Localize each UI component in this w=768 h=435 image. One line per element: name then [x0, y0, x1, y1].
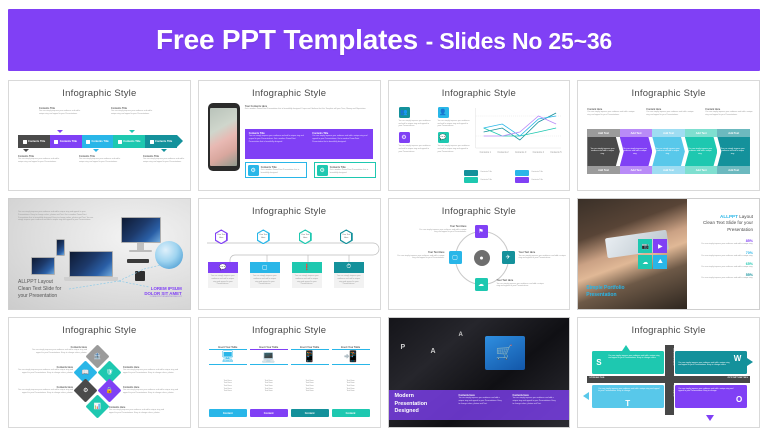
shield-icon: 🛡	[106, 369, 114, 376]
node-body: You can simply impress your audience and…	[519, 255, 567, 260]
column-rule	[209, 364, 247, 365]
slide-thumbnail-12[interactable]: Infographic Style S You can simply impre…	[577, 317, 760, 428]
axis-label-strengths: STRENGTHS	[589, 377, 604, 379]
segment-label: Contents Title	[123, 140, 140, 143]
stat-body: You can simply impress your audience and…	[693, 277, 753, 280]
line-chart-svg: Contents 1Contents 2 Contents 3Contents …	[464, 106, 562, 158]
phone-icon: 📲	[344, 350, 358, 364]
key-alt: A	[459, 332, 463, 338]
slide-thumbnail-8[interactable]: Simple Portfolio Presentation 📷 ▶ ☁ ⛰ AL…	[577, 198, 760, 309]
axis-label-threats: THREATS	[666, 385, 674, 397]
svg-text:Contents 4: Contents 4	[533, 151, 545, 154]
chevron-column-5[interactable]: Add Text You can simply impress your aud…	[717, 129, 750, 174]
hex-card-3[interactable]: ❗ You can simply impress your audience a…	[292, 262, 322, 288]
slide-thumbnail-9[interactable]: Infographic Style 🏦 📖 🛡 ⚙ 🔒 📊 Contents H…	[8, 317, 191, 428]
accent-sub: CONSECTETUR ADIPISCING ELIT	[144, 296, 181, 298]
intro-block: Your Contents Here Get a modern PowerPoi…	[245, 105, 373, 111]
poster-page: Free PPT Templates - Slides No 25~36 Inf…	[0, 0, 768, 435]
slide-thumbnail-6[interactable]: Infographic Style Your Text Here Your Te…	[198, 198, 381, 309]
hex-step-3[interactable]: Your Text Here	[299, 229, 312, 244]
table-cells-3: Text Here Text Here Text Here Text Here …	[291, 380, 329, 394]
slide-thumbnail-11[interactable]: 🛒 P A A Modern Presentation Designed Con…	[388, 317, 571, 428]
monitor-stand	[137, 243, 144, 250]
slide-title: Infographic Style	[199, 88, 380, 99]
table-column-2[interactable]: Insert Your Table 💻	[250, 346, 288, 365]
swot-letter-t: T	[625, 399, 630, 408]
column-rule	[332, 364, 370, 365]
chevron-body: You can simply impress your audience and…	[590, 148, 615, 156]
timeline-segment-2[interactable]: Contents Title	[50, 135, 82, 148]
chevron-header: Add Text	[685, 129, 718, 137]
key-p: P	[401, 344, 406, 351]
circle-icon: ●	[474, 250, 490, 266]
node-text-top: Your Text Here You can simply impress yo…	[417, 225, 467, 234]
tablet-icon: ▢	[250, 262, 280, 273]
slide-thumbnail-10[interactable]: Infographic Style Insert Your Table 🖥 In…	[198, 317, 381, 428]
hex-card-body: You can simply impress your audience and…	[250, 273, 280, 288]
hex-step-4[interactable]: Your Text Here	[340, 229, 353, 244]
node-body: You can simply impress your audience and…	[417, 229, 467, 234]
stat-item-3: 65% You can simply impress your audience…	[693, 262, 753, 269]
laptop-icon: 💻	[262, 350, 276, 364]
segment-icon	[86, 140, 90, 144]
table-cell: Text Here	[224, 390, 232, 393]
gear-icon: ⚙	[83, 387, 88, 394]
slide-title: Infographic Style	[9, 325, 190, 336]
svg-text:Contents 3: Contents 3	[515, 151, 527, 154]
hex-label: Your Text Here	[340, 234, 353, 239]
table-cells-1: Text Here Text Here Text Here Text Here …	[209, 380, 247, 394]
chevron-footer: Add Text	[587, 166, 620, 174]
hex-card-1[interactable]: 💬 You can simply impress your audience a…	[208, 262, 238, 288]
segment-label: Contents Title	[155, 140, 172, 143]
node-body: You can simply impress your audience and…	[397, 255, 445, 260]
note-body: You can simply impress your audience and…	[17, 389, 73, 394]
content-button-2[interactable]: Content	[250, 409, 288, 417]
slide-thumbnail-7[interactable]: Infographic Style ● ⚑ ▢ ✈ ☁ Your Text He…	[388, 198, 571, 309]
legend-item-3: Contents Title	[515, 170, 562, 176]
card-body: Get a modern PowerPoint Presentation tha…	[330, 169, 373, 174]
portfolio-right-panel: ALLPPT Layout Clean Text Slide for your …	[687, 199, 759, 308]
stat-item-4: 55% You can simply impress your audience…	[693, 273, 753, 280]
arrow-left-icon	[583, 392, 589, 400]
table-button-row: Content Content Content Content	[209, 409, 370, 417]
column-body: You can simply impress your audience and…	[459, 397, 503, 405]
svg-text:Contents 5: Contents 5	[550, 151, 562, 154]
slide-thumbnail-1[interactable]: Infographic Style Contents Title You can…	[8, 80, 191, 191]
chevron-footer: Add Text	[652, 166, 685, 174]
hex-card-body: You can simply impress your audience and…	[292, 273, 322, 288]
hex-label: Your Text Here	[215, 234, 228, 239]
purple-overlay: Modern Presentation Designed Contents He…	[389, 390, 570, 420]
chevron-column-3[interactable]: Add Text You can simply impress your aud…	[652, 129, 685, 174]
arrow-head-icon	[177, 135, 183, 147]
swot-weaknesses[interactable]: W You can simply impress your audience a…	[675, 351, 747, 374]
table-cells-2: Text Here Text Here Text Here Text Here …	[250, 380, 288, 394]
hex-card-body: You can simply impress your audience and…	[334, 273, 364, 288]
phone-screen-photo	[210, 108, 237, 166]
monitor-screen	[121, 217, 161, 243]
chart-legend: Contents Title Contents Title Contents T…	[464, 170, 562, 184]
segment-icon	[54, 140, 58, 144]
hexagon-icon: Your Text Here	[299, 229, 312, 244]
table-cell: Text Here	[265, 390, 273, 393]
node-top[interactable]: ⚑	[475, 225, 488, 238]
chevron-header: Add Text	[717, 129, 750, 137]
note-body: You can simply impress your audience and…	[123, 389, 183, 394]
panel-body: You can simply impress your audience and…	[249, 135, 305, 143]
table-column-3[interactable]: Insert Your Table 📱	[291, 346, 329, 365]
chat-icon: 💬	[208, 262, 238, 273]
hexagon-icon: Your Text Here	[215, 229, 228, 244]
legend-swatch	[464, 170, 478, 176]
phone-screen	[56, 239, 65, 256]
lock-icon: 🔒	[106, 387, 113, 394]
feature-item-1[interactable]: 👥 You can simply impress your audience a…	[399, 107, 432, 128]
swot-body: You can simply impress your audience and…	[608, 355, 661, 360]
table-column-4[interactable]: Insert Your Table 📲	[332, 346, 370, 365]
node-left[interactable]: ▢	[449, 251, 462, 264]
bank-icon: 🏦	[94, 353, 101, 360]
legend-label: Contents Title	[531, 179, 543, 182]
keyboard-headline: Modern Presentation Designed	[395, 393, 428, 416]
chevron-body: You can simply impress your audience and…	[623, 148, 648, 156]
chevron-footer: Add Text	[685, 166, 718, 174]
chevron-column-1[interactable]: Add Text You can simply impress your aud…	[587, 129, 620, 174]
book-icon: 📖	[82, 369, 89, 376]
note-body: You can simply impress your audience and…	[646, 111, 696, 116]
swot-threats[interactable]: T You can simply impress your audience a…	[592, 385, 664, 408]
axis-label-opportunities: OPPORTUNITIES	[728, 377, 748, 379]
note-body: You can simply impress your audience and…	[31, 349, 87, 354]
table-cell: Text Here	[306, 390, 314, 393]
arrow-up-icon	[622, 345, 630, 351]
note-body: You can simply impress your audience and…	[587, 111, 637, 116]
legend-label: Contents Title	[480, 171, 492, 174]
page-title-main: Free PPT Templates	[156, 24, 418, 55]
people-icon: 👥	[399, 107, 410, 118]
segment-icon	[118, 140, 122, 144]
chevron-body: You can simply impress your audience and…	[688, 148, 713, 156]
hexagon-icon: Your Text Here	[257, 229, 270, 244]
svg-text:Contents 1: Contents 1	[480, 151, 492, 154]
slide-thumbnail-5[interactable]: You can simply impress your audience and…	[8, 198, 191, 309]
callout-top-2: Contents Title You can simply impress yo…	[111, 107, 155, 116]
info-card-2[interactable]: ⚙ Contents Title Get a modern PowerPoint…	[314, 162, 376, 178]
card-body: Get a modern PowerPoint Presentation tha…	[261, 169, 304, 174]
column-body: You can simply impress your audience and…	[513, 397, 557, 405]
slide-title: Infographic Style	[199, 206, 380, 217]
accent-text: LOREM IPSUM DOLOR SIT AMET CONSECTETUR A…	[144, 286, 181, 298]
cart-key-icon: 🛒	[485, 336, 525, 370]
chevron-header: Add Text	[652, 129, 685, 137]
slide-thumbnail-4[interactable]: Infographic Style Content Here You can s…	[577, 80, 760, 191]
node-bottom[interactable]: ☁	[475, 278, 488, 291]
table-header-row: Insert Your Table 🖥 Insert Your Table 💻 …	[209, 346, 370, 365]
callout-body: You can simply impress your audience and…	[79, 158, 123, 163]
hexagon-icon: Your Text Here	[340, 229, 353, 244]
swot-letter-w: W	[734, 354, 742, 363]
swot-strengths[interactable]: S You can simply impress your audience a…	[592, 351, 664, 374]
accent-line-2: DOLOR SIT AMET	[144, 291, 181, 296]
top-note-2: Content Here You can simply impress your…	[646, 108, 696, 117]
line-chart: Contents 1Contents 2 Contents 3Contents …	[464, 106, 562, 158]
video-icon[interactable]: ▶	[653, 239, 667, 253]
callout-body: You can simply impress your audience and…	[111, 110, 155, 115]
legend-label: Contents Title	[480, 179, 492, 182]
hex-card-2[interactable]: ▢ You can simply impress your audience a…	[250, 262, 280, 288]
diamond-note-4: Contents Here You can simply impress you…	[123, 366, 183, 375]
segment-label: Contents Title	[60, 140, 77, 143]
chevron-footer: Add Text	[620, 166, 653, 174]
hex-card-body: You can simply impress your audience and…	[208, 273, 238, 288]
pointer-down-1	[23, 149, 29, 152]
slide-title: Infographic Style	[389, 88, 570, 99]
slide-title: Infographic Style	[199, 325, 380, 336]
swot-body: You can simply impress your audience and…	[678, 388, 733, 393]
slide-thumbnail-2[interactable]: Infographic Style Your Contents Here Get…	[198, 80, 381, 191]
stat-body: You can simply impress your audience and…	[693, 266, 753, 269]
alert-icon: ❗	[292, 262, 322, 273]
hex-card-4[interactable]: ⏱ You can simply impress your audience a…	[334, 262, 364, 288]
segment-icon	[23, 140, 27, 144]
note-body: You can simply impress your audience and…	[17, 369, 73, 374]
segment-icon	[150, 140, 154, 144]
header-banner: Free PPT Templates - Slides No 25~36	[8, 9, 760, 71]
legend-item-4: Contents Title	[515, 177, 562, 183]
slide-title: Infographic Style	[389, 206, 570, 217]
callout-top-1: Contents Title You can simply impress yo…	[39, 107, 83, 116]
chart-icon: 📊	[94, 403, 101, 410]
hex-label: Your Text Here	[257, 234, 270, 239]
hex-step-1[interactable]: Your Text Here	[215, 229, 228, 244]
stat-item-2: 70% You can simply impress your audience…	[693, 251, 753, 258]
segment-label: Contents Title	[92, 140, 109, 143]
callout-bottom-1: Contents Title You can simply impress yo…	[18, 155, 62, 164]
swot-opportunities[interactable]: O You can simply impress your audience a…	[675, 385, 747, 408]
stat-body: You can simply impress your audience and…	[693, 255, 753, 258]
hex-label: Your Text Here	[299, 234, 312, 239]
callout-bottom-3: Contents Title You can simply impress yo…	[143, 155, 187, 164]
chevron-header: Add Text	[620, 129, 653, 137]
gear-icon: ⚙	[317, 165, 328, 176]
timeline-bar: Contents Title Contents Title Contents T…	[18, 135, 177, 148]
top-note-3: Content Here You can simply impress your…	[705, 108, 755, 117]
page-title-sub: - Slides No 25~36	[426, 28, 612, 54]
callout-body: You can simply impress your audience and…	[143, 158, 187, 163]
portfolio-headline: ALLPPT Layout Clean Text Slide for your …	[693, 207, 753, 233]
portfolio-overlay-title: Simple Portfolio Presentation	[586, 285, 624, 299]
swot-axis-horizontal	[587, 376, 750, 383]
purple-panel: Contents Title You can simply impress yo…	[245, 129, 373, 159]
slide-title: Infographic Style	[9, 88, 190, 99]
feature-body: You can simply impress your audience and…	[399, 145, 432, 153]
legend-item-1: Contents Title	[464, 170, 511, 176]
diamond-note-6: Contents Here You can simply impress you…	[109, 406, 169, 415]
column-rule	[250, 364, 288, 365]
overlay-column-2: Contents Here You can simply impress you…	[513, 394, 557, 406]
slide-grid: Infographic Style Contents Title You can…	[8, 80, 760, 428]
chevron-body: You can simply impress your audience and…	[655, 148, 680, 156]
photo-body-text: You can simply impress your audience and…	[18, 211, 96, 222]
image-icon[interactable]: ⛰	[653, 255, 667, 269]
swot-body: You can simply impress your audience and…	[598, 388, 661, 393]
table-cells-4: Text Here Text Here Text Here Text Here …	[332, 380, 370, 394]
content-button-1[interactable]: Content	[209, 409, 247, 417]
stat-item-1: 85% You can simply impress your audience…	[693, 239, 753, 246]
svg-text:Contents 2: Contents 2	[498, 151, 510, 154]
callout-body: You can simply impress your audience and…	[39, 110, 83, 115]
slide-thumbnail-3[interactable]: Infographic Style 👥 You can simply impre…	[388, 80, 571, 191]
chevron-column-4[interactable]: Add Text You can simply impress your aud…	[685, 129, 718, 174]
legend-swatch	[515, 177, 529, 183]
pointer-teal	[129, 130, 135, 133]
phone-mockup	[208, 103, 240, 171]
node-text-left: Your Text Here You can simply impress yo…	[397, 251, 445, 260]
column-rule	[291, 364, 329, 365]
table-body: Text Here Text Here Text Here Text Here …	[209, 380, 370, 394]
tablet-icon: 📱	[303, 350, 317, 364]
timeline-segment-5[interactable]: Contents Title	[145, 135, 177, 148]
note-body: You can simply impress your audience and…	[109, 409, 169, 414]
top-note-1: Content Here You can simply impress your…	[587, 108, 637, 117]
diamond-note-5: Contents Here You can simply impress you…	[123, 386, 183, 395]
feature-grid: 👥 You can simply impress your audience a…	[399, 107, 471, 153]
node-text-bottom: Your Text Here You can simply impress yo…	[497, 279, 547, 288]
connector-path	[205, 235, 380, 263]
legend-swatch	[515, 170, 529, 176]
node-body: You can simply impress your audience and…	[497, 283, 547, 288]
pointer-down-2	[93, 149, 99, 152]
monitor-icon: 🖥	[221, 350, 235, 364]
stats-list: 85% You can simply impress your audience…	[693, 239, 753, 279]
stat-body: You can simply impress your audience and…	[693, 243, 753, 246]
diamond-note-1: Contents Here You can simply impress you…	[31, 346, 87, 355]
content-button-4[interactable]: Content	[332, 409, 370, 417]
chevron-footer: Add Text	[717, 166, 750, 174]
chevron-header: Add Text	[587, 129, 620, 137]
axis-label-weaknesses: WEAKNESSES	[666, 348, 674, 366]
page-title: Free PPT Templates - Slides No 25~36	[156, 24, 612, 56]
table-cell: Text Here	[346, 390, 354, 393]
callout-body: You can simply impress your audience and…	[18, 158, 62, 163]
overlay-column-1: Contents Here You can simply impress you…	[459, 394, 503, 406]
legend-swatch	[464, 177, 478, 183]
info-card-1[interactable]: ⚙ Contents Title Get a modern PowerPoint…	[245, 162, 307, 178]
callout-bottom-2: Contents Title You can simply impress yo…	[79, 155, 123, 164]
swot-letter-s: S	[596, 358, 601, 367]
node-right[interactable]: ✈	[502, 251, 515, 264]
chevron-row: Add Text You can simply impress your aud…	[587, 129, 750, 174]
cloud-icon[interactable]: ☁	[638, 255, 652, 269]
table-column-1[interactable]: Insert Your Table 🖥	[209, 346, 247, 365]
content-button-3[interactable]: Content	[291, 409, 329, 417]
legend-item-2: Contents Title	[464, 177, 511, 183]
brand-name: ALLPPT	[720, 214, 738, 219]
panel-body: You can simply impress your audience and…	[312, 135, 368, 143]
chevron-body: You can simply impress your audience and…	[720, 148, 745, 156]
arrow-down-icon	[706, 415, 714, 421]
legend-label: Contents Title	[531, 171, 543, 174]
slide-title: Infographic Style	[578, 88, 759, 99]
note-body: You can simply impress your audience and…	[705, 111, 755, 116]
swot-letter-o: O	[736, 395, 742, 404]
feature-item-3[interactable]: ⚙ You can simply impress your audience a…	[399, 132, 432, 153]
node-text-right: Your Text Here You can simply impress yo…	[519, 251, 567, 260]
arrow-right-icon	[747, 358, 753, 366]
gear-icon: ⚙	[399, 132, 410, 143]
feature-body: You can simply impress your audience and…	[399, 120, 432, 128]
camera-icon[interactable]: 📷	[638, 239, 652, 253]
diamond-note-3: Contents Here You can simply impress you…	[17, 386, 73, 395]
key-a: A	[431, 348, 436, 355]
pointer-down-3	[161, 149, 167, 152]
timeline-segment-3[interactable]: Contents Title	[82, 135, 114, 148]
swot-body: You can simply impress your audience and…	[678, 362, 731, 367]
timeline-segment-1[interactable]: Contents Title	[18, 135, 50, 148]
user-icon: 👤	[438, 107, 449, 118]
clock-icon: ⏱	[334, 262, 364, 273]
diamond-note-2: Contents Here You can simply impress you…	[17, 366, 73, 375]
chat-icon: 💬	[438, 132, 449, 143]
hex-step-2[interactable]: Your Text Here	[257, 229, 270, 244]
pointer-purple	[57, 130, 63, 133]
chevron-column-2[interactable]: Add Text You can simply impress your aud…	[620, 129, 653, 174]
monitor-base	[129, 250, 152, 252]
note-body: You can simply impress your audience and…	[123, 369, 183, 374]
photo-headline: ALLPPT Layout Clean Text Slide for your …	[18, 279, 61, 300]
slide-title: Infographic Style	[578, 325, 759, 336]
segment-label: Contents Title	[28, 140, 45, 143]
timeline-segment-4[interactable]: Contents Title	[113, 135, 145, 148]
intro-body: Get a modern PowerPoint Presentation tha…	[245, 108, 373, 111]
gear-icon: ⚙	[248, 165, 259, 176]
